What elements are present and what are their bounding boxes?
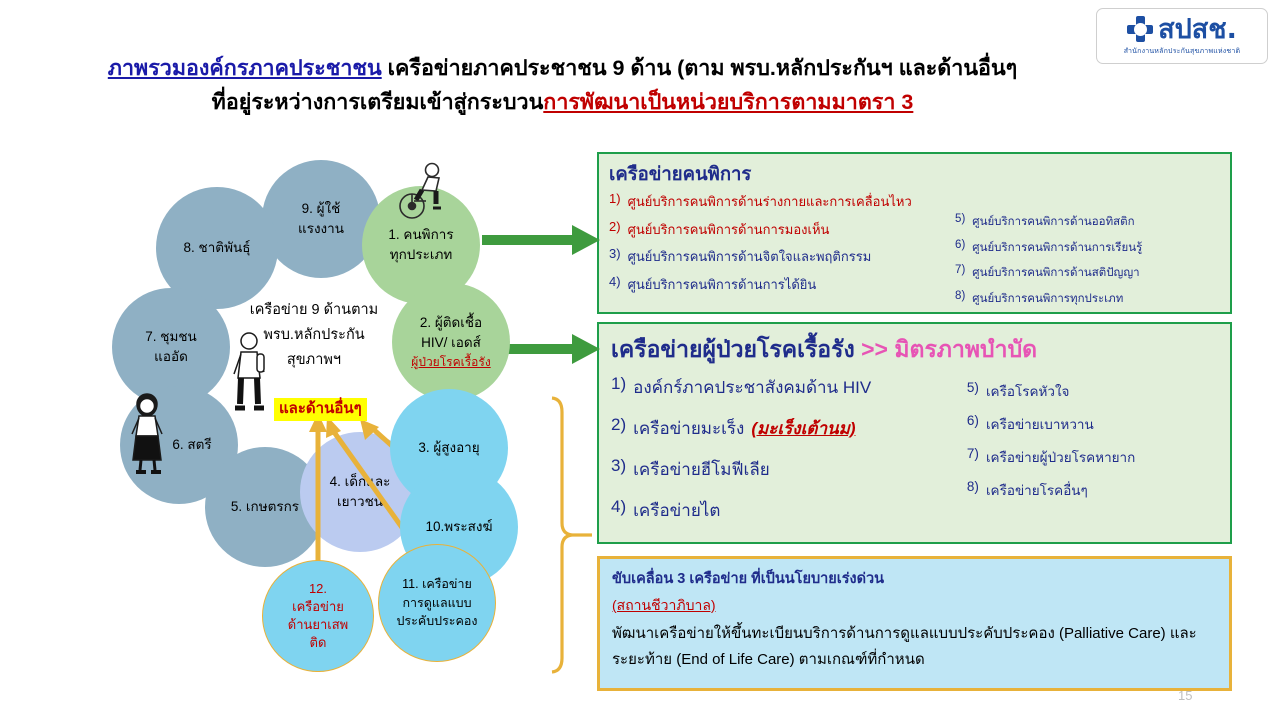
list-item[interactable]: 2)ศูนย์บริการคนพิการด้านการมองเห็น xyxy=(609,219,955,240)
circle-12-line-4: ติด xyxy=(310,634,327,652)
item-number: 6) xyxy=(967,413,979,435)
box-chronic-heading-accent: มิตรภาพบำบัด xyxy=(894,336,1037,362)
box-palliative-policy: ขับเคลื่อน 3 เครือข่าย ที่เป็นนโยบายเร่ง… xyxy=(597,556,1232,691)
palliative-line-3: พัฒนาเครือข่ายให้ขึ้นทะเบียนบริการด้านกา… xyxy=(612,621,1219,674)
list-item[interactable]: 1)องค์กร์ภาคประชาสังคมด้าน HIV xyxy=(611,374,967,401)
circle-12-line-2: เครือข่าย xyxy=(292,598,344,616)
box-disability-list-left: 1)ศูนย์บริการคนพิการด้านร่างกายและการเคล… xyxy=(609,191,955,315)
box-disability-network: เครือข่ายคนพิการ 1)ศูนย์บริการคนพิการด้า… xyxy=(597,152,1232,314)
circle-12-line-1: 12. xyxy=(309,580,327,598)
logo-cross-center xyxy=(1134,23,1147,36)
wheelchair-person-icon xyxy=(392,160,454,214)
circle-12-line-3: ด้านยาเสพ xyxy=(288,616,349,634)
item-number: 2) xyxy=(611,415,626,442)
circle-4-line-1: 4. เด็กและ xyxy=(330,472,391,492)
item-text: ศูนย์บริการคนพิการด้านสติปัญญา xyxy=(972,264,1139,282)
list-item[interactable]: 3)เครือข่ายฮีโมฟีเลีย xyxy=(611,456,967,483)
woman-figure-icon xyxy=(124,392,170,478)
circle-1-line-2: ทุกประเภท xyxy=(390,245,453,265)
list-item[interactable]: 4)เครือข่ายไต xyxy=(611,497,967,524)
title-line2-rest: ที่อยู่ระหว่างการเตรียมเข้าสู่กระบวน xyxy=(212,90,544,114)
item-text: ศูนย์บริการคนพิการด้านร่างกายและการเคลื่… xyxy=(628,191,912,212)
list-item[interactable]: 7)เครือข่ายผู้ป่วยโรคหายาก xyxy=(967,446,1222,468)
title-line-1: ภาพรวมองค์กรภาคประชาชน เครือข่ายภาคประชา… xyxy=(40,52,1085,86)
item-text: องค์กร์ภาคประชาสังคมด้าน HIV xyxy=(633,374,871,401)
item-number: 7) xyxy=(967,446,979,468)
logo-row: สปสช. xyxy=(1127,16,1237,43)
item-number: 1) xyxy=(609,191,621,212)
item-number: 7) xyxy=(955,264,965,282)
circle-9-line-1: 9. ผู้ใช้ xyxy=(302,199,341,219)
medical-cross-icon xyxy=(1127,16,1153,42)
title-link-section3[interactable]: การพัฒนาเป็นหน่วยบริการตามมาตรา 3 xyxy=(543,90,913,114)
box-chronic-heading-main: เครือข่ายผู้ป่วยโรคเรื้อรัง xyxy=(611,336,855,362)
green-arrow-disability xyxy=(482,225,600,255)
circle-6-line-1: 6. สตรี xyxy=(172,435,211,455)
circle-1-line-1: 1. คนพิการ xyxy=(388,225,453,245)
list-item[interactable]: 6)ศูนย์บริการคนพิการด้านการเรียนรู้ xyxy=(955,239,1222,257)
item-number: 1) xyxy=(611,374,626,401)
circle-5-line-1: 5. เกษตรกร xyxy=(231,497,299,517)
item-number: 8) xyxy=(955,290,965,308)
box-chronic-network: เครือข่ายผู้ป่วยโรคเรื้อรัง >> มิตรภาพบำ… xyxy=(597,322,1232,544)
item-text: เครือข่ายโรคอื่นๆ xyxy=(986,479,1088,501)
circle-11-line-2: การดูแลแบบ xyxy=(402,594,471,613)
circle-11-line-3: ประคับประคอง xyxy=(397,612,478,631)
circle-9-labour[interactable]: 9. ผู้ใช้ แรงงาน xyxy=(262,160,380,278)
item-text: เครือข่ายมะเร็ง xyxy=(633,415,744,442)
circle-2-subtext: ผู้ป่วยโรคเรื้อรัง xyxy=(411,353,490,371)
item-number: 3) xyxy=(611,456,626,483)
box-disability-list-right: 5)ศูนย์บริการคนพิการด้านออทิสติก 6)ศูนย์… xyxy=(955,191,1222,315)
item-text: ศูนย์บริการคนพิการด้านการมองเห็น xyxy=(628,219,830,240)
box-chronic-list-left: 1)องค์กร์ภาคประชาสังคมด้าน HIV 2)เครือข่… xyxy=(611,374,967,538)
item-text: ศูนย์บริการคนพิการด้านการได้ยิน xyxy=(628,274,817,295)
circle-12-drugs[interactable]: 12. เครือข่าย ด้านยาเสพ ติด xyxy=(262,560,374,672)
logo-subtitle: สำนักงานหลักประกันสุขภาพแห่งชาติ xyxy=(1124,46,1240,57)
list-item[interactable]: 6)เครือข่ายเบาหวาน xyxy=(967,413,1222,435)
item-text: เครือข่ายฮีโมฟีเลีย xyxy=(633,456,770,483)
green-arrow-chronic xyxy=(508,334,600,364)
box-chronic-columns: 1)องค์กร์ภาคประชาสังคมด้าน HIV 2)เครือข่… xyxy=(611,374,1222,538)
palliative-line-1: ขับเคลื่อน 3 เครือข่าย ที่เป็นนโยบายเร่ง… xyxy=(612,567,1219,590)
circle-11-palliative[interactable]: 11. เครือข่าย การดูแลแบบ ประคับประคอง xyxy=(378,544,496,662)
item-text: ศูนย์บริการคนพิการด้านออทิสติก xyxy=(972,213,1134,231)
list-item[interactable]: 8)ศูนย์บริการคนพิการทุกประเภท xyxy=(955,290,1222,308)
list-item[interactable]: 8)เครือข่ายโรคอื่นๆ xyxy=(967,479,1222,501)
orange-brace xyxy=(552,398,592,672)
box-chronic-heading-arrow: >> xyxy=(855,336,895,362)
center-caption-line-1: เครือข่าย 9 ด้านตาม xyxy=(228,298,400,323)
title-link-overview[interactable]: ภาพรวมองค์กรภาคประชาชน xyxy=(108,56,382,80)
circle-11-line-1: 11. เครือข่าย xyxy=(402,575,472,594)
circle-3-line-1: 3. ผู้สูงอายุ xyxy=(418,438,479,458)
item-number: 2) xyxy=(609,219,621,240)
item-emphasis: (มะเร็งเต้านม) xyxy=(751,415,855,442)
title-line-2: ที่อยู่ระหว่างการเตรียมเข้าสู่กระบวนการพ… xyxy=(40,86,1085,120)
box-disability-heading: เครือข่ายคนพิการ xyxy=(609,160,1222,189)
item-number: 4) xyxy=(611,497,626,524)
logo-acronym: สปสช. xyxy=(1158,16,1237,43)
item-text: ศูนย์บริการคนพิการทุกประเภท xyxy=(972,290,1123,308)
standing-man-figure-icon xyxy=(228,330,272,416)
list-item[interactable]: 7)ศูนย์บริการคนพิการด้านสติปัญญา xyxy=(955,264,1222,282)
palliative-line-2[interactable]: (สถานชีวาภิบาล) xyxy=(612,595,1219,617)
list-item[interactable]: 5)เครือโรคหัวใจ xyxy=(967,380,1222,402)
item-text: เครือข่ายไต xyxy=(633,497,720,524)
circle-10-line-1: 10.พระสงฆ์ xyxy=(425,517,492,537)
list-item[interactable]: 4)ศูนย์บริการคนพิการด้านการได้ยิน xyxy=(609,274,955,295)
item-number: 6) xyxy=(955,239,965,257)
circle-2-hiv[interactable]: 2. ผู้ติดเชื้อ HIV/ เอดส์ ผู้ป่วยโรคเรื้… xyxy=(392,283,510,401)
item-text: ศูนย์บริการคนพิการด้านจิตใจและพฤติกรรม xyxy=(628,246,872,267)
title-line1-rest: เครือข่ายภาคประชาชน 9 ด้าน (ตาม พรบ.หลัก… xyxy=(382,56,1018,80)
nhso-logo: สปสช. สำนักงานหลักประกันสุขภาพแห่งชาติ xyxy=(1096,8,1268,64)
item-number: 8) xyxy=(967,479,979,501)
item-number: 5) xyxy=(955,213,965,231)
circle-9-line-2: แรงงาน xyxy=(298,219,344,239)
list-item[interactable]: 3)ศูนย์บริการคนพิการด้านจิตใจและพฤติกรรม xyxy=(609,246,955,267)
other-domains-tag: และด้านอื่นๆ xyxy=(274,398,367,421)
circle-7-line-2: แออัด xyxy=(154,347,188,367)
box-disability-columns: 1)ศูนย์บริการคนพิการด้านร่างกายและการเคล… xyxy=(609,191,1222,315)
list-item[interactable]: 1)ศูนย์บริการคนพิการด้านร่างกายและการเคล… xyxy=(609,191,955,212)
item-number: 5) xyxy=(967,380,979,402)
circle-4-line-2: เยาวชน xyxy=(337,492,383,512)
box-chronic-heading: เครือข่ายผู้ป่วยโรคเรื้อรัง >> มิตรภาพบำ… xyxy=(611,332,1222,368)
slide-canvas: สปสช. สำนักงานหลักประกันสุขภาพแห่งชาติ ภ… xyxy=(0,0,1280,720)
list-item[interactable]: 5)ศูนย์บริการคนพิการด้านออทิสติก xyxy=(955,213,1222,231)
circle-8-line-1: 8. ชาติพันธุ์ xyxy=(184,238,251,258)
box-chronic-list-right: 5)เครือโรคหัวใจ 6)เครือข่ายเบาหวาน 7)เคร… xyxy=(967,374,1222,538)
item-text: เครือโรคหัวใจ xyxy=(986,380,1070,402)
item-number: 4) xyxy=(609,274,621,295)
item-text: เครือข่ายเบาหวาน xyxy=(986,413,1094,435)
circle-2-line-1: 2. ผู้ติดเชื้อ xyxy=(420,313,482,333)
item-text: เครือข่ายผู้ป่วยโรคหายาก xyxy=(986,446,1135,468)
circle-7-line-1: 7. ชุมชน xyxy=(145,327,196,347)
page-number: 15 xyxy=(1178,688,1192,703)
circle-2-line-2: HIV/ เอดส์ xyxy=(421,333,481,353)
item-number: 3) xyxy=(609,246,621,267)
item-text: ศูนย์บริการคนพิการด้านการเรียนรู้ xyxy=(972,239,1142,257)
list-item[interactable]: 2)เครือข่ายมะเร็ง (มะเร็งเต้านม) xyxy=(611,415,967,442)
slide-title: ภาพรวมองค์กรภาคประชาชน เครือข่ายภาคประชา… xyxy=(40,52,1085,120)
